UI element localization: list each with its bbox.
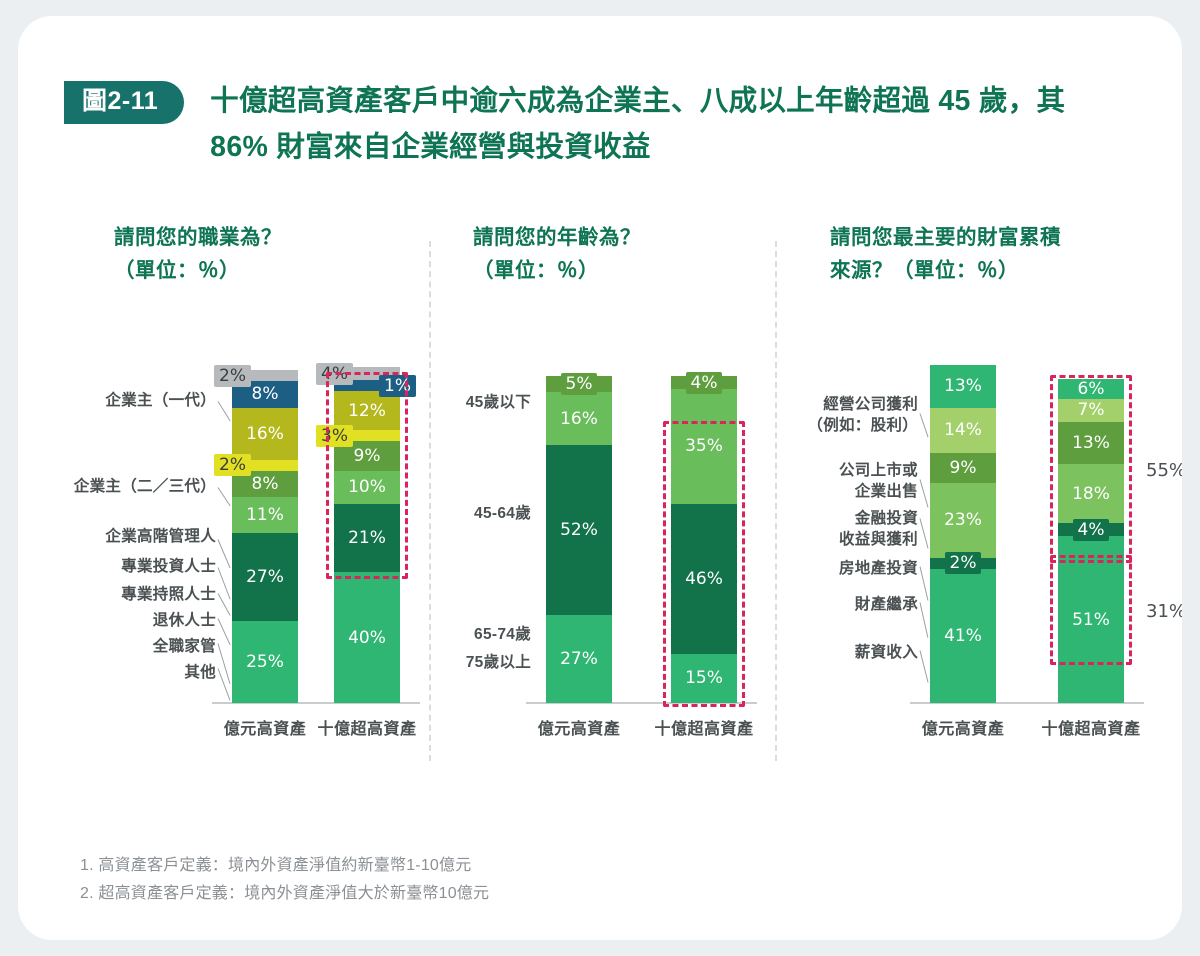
footnotes: 1. 高資產客戶定義：境內外資產淨值約新臺幣1-10億元 2. 超高資產客戶定義… xyxy=(80,852,980,907)
bar-segment[interactable]: 5% xyxy=(546,376,612,392)
footnote-1: 1. 高資產客戶定義：境內外資產淨值約新臺幣1-10億元 xyxy=(80,852,980,880)
category-label: 薪資收入 xyxy=(828,643,918,664)
category-label: 企業主（一代） xyxy=(64,391,216,412)
bar-segment[interactable]: 16% xyxy=(232,408,298,460)
segment-value-label: 21% xyxy=(348,528,386,548)
category-label: 金融投資 收益與獲利 xyxy=(800,509,918,550)
bar-segment[interactable]: 23% xyxy=(930,483,996,558)
leader-line xyxy=(920,413,929,437)
stacked-bar-right[interactable]: 40%21%10%9%3%12%1%4% xyxy=(334,367,400,703)
category-label: 企業主（二／三代） xyxy=(56,477,216,498)
category-label: 公司上市或 企業出售 xyxy=(800,461,918,502)
segment-value-label: 4% xyxy=(316,363,353,385)
bar-segment[interactable]: 27% xyxy=(232,533,298,621)
chart-panel-age: 請問您的年齡為？ （單位：％） 27%52%16%5%億元高資產15%46%35… xyxy=(431,221,776,781)
highlight-total-note: 55% xyxy=(1146,460,1182,481)
stacked-bar-left[interactable]: 41%2%23%9%14%13% xyxy=(930,365,996,703)
leader-line xyxy=(920,518,929,548)
bar-segment[interactable]: 2% xyxy=(232,370,298,381)
category-label: 財產繼承 xyxy=(828,595,918,616)
segment-value-label: 11% xyxy=(246,505,284,525)
footnote-2: 2. 超高資產客戶定義：境內外資產淨值大於新臺幣10億元 xyxy=(80,880,980,908)
figure-title: 十億超高資產客戶中逾六成為企業主、八成以上年齡超過 45 歲，其 86% 財富來… xyxy=(210,78,1124,170)
segment-value-label: 51% xyxy=(1072,610,1110,630)
segment-value-label: 52% xyxy=(560,520,598,540)
segment-value-label: 25% xyxy=(246,652,284,672)
segment-value-label: 40% xyxy=(348,628,386,648)
bar-segment[interactable]: 6% xyxy=(1058,379,1124,399)
segment-value-label: 16% xyxy=(560,409,598,429)
bar-segment[interactable]: 18% xyxy=(1058,464,1124,523)
bar-segment[interactable]: 4% xyxy=(671,376,737,389)
category-label: 65-74歲 xyxy=(431,625,531,646)
plot-area: 25%27%11%8%2%16%8%2%億元高資產40%21%10%9%3%12… xyxy=(64,361,429,741)
category-label: 全職家管 xyxy=(116,637,216,658)
bar-segment[interactable]: 13% xyxy=(1058,422,1124,465)
segment-value-label: 5% xyxy=(561,373,598,395)
leader-line xyxy=(920,650,929,682)
leader-line xyxy=(218,618,231,645)
bar-segment[interactable]: 2% xyxy=(930,558,996,569)
stacked-bar-right[interactable]: 51%4%18%13%7%6% xyxy=(1058,379,1124,703)
bar-segment[interactable]: 51% xyxy=(1058,536,1124,703)
leader-line xyxy=(218,487,231,506)
bar-segment[interactable]: 52% xyxy=(546,445,612,615)
segment-value-label: 9% xyxy=(354,446,381,466)
category-label: 經營公司獲利 （例如：股利） xyxy=(778,395,918,436)
bar-segment[interactable]: 27% xyxy=(546,615,612,703)
segment-value-label: 1% xyxy=(379,375,416,397)
category-label: 45-64歲 xyxy=(431,504,531,525)
bar-segment[interactable]: 10% xyxy=(334,471,400,504)
segment-value-label: 15% xyxy=(685,668,723,688)
panel-title: 請問您最主要的財富累積 來源？（單位：％） xyxy=(830,221,1168,287)
bar-segment[interactable]: 25% xyxy=(232,621,298,703)
segment-value-label: 4% xyxy=(686,372,723,394)
leader-line xyxy=(218,539,231,568)
segment-value-label: 8% xyxy=(252,384,279,404)
category-label: 退休人士 xyxy=(116,611,216,632)
bar-segment[interactable]: 21% xyxy=(334,504,400,573)
category-label: 75歲以上 xyxy=(431,653,531,674)
panel-title: 請問您的職業為？ （單位：％） xyxy=(114,221,429,287)
segment-value-label: 18% xyxy=(1072,484,1110,504)
charts-area: 請問您的職業為？ （單位：％） 25%27%11%8%2%16%8%2%億元高資… xyxy=(18,221,1182,781)
highlight-total-note: 31% xyxy=(1146,601,1182,622)
segment-value-label: 46% xyxy=(685,569,723,589)
segment-value-label: 6% xyxy=(1078,379,1105,399)
x-axis-label: 億元高資產 xyxy=(896,715,1030,739)
bar-segment[interactable]: 11% xyxy=(232,497,298,533)
bar-segment[interactable]: 13% xyxy=(930,365,996,408)
stacked-bar-left[interactable]: 27%52%16%5% xyxy=(546,376,612,703)
category-label: 專業投資人士 xyxy=(84,557,216,578)
x-axis-label: 億元高資產 xyxy=(512,715,646,739)
segment-value-label: 14% xyxy=(944,420,982,440)
segment-value-label: 2% xyxy=(214,365,251,387)
segment-value-label: 12% xyxy=(348,401,386,421)
bar-segment[interactable]: 15% xyxy=(671,654,737,703)
category-label: 其他 xyxy=(160,663,216,684)
bar-segment[interactable]: 2% xyxy=(232,460,298,471)
segment-value-label: 27% xyxy=(246,567,284,587)
stacked-bar-left[interactable]: 25%27%11%8%2%16%8%2% xyxy=(232,370,298,703)
panel-title: 請問您的年齡為？ （單位：％） xyxy=(473,221,776,287)
chart-panel-occupation: 請問您的職業為？ （單位：％） 25%27%11%8%2%16%8%2%億元高資… xyxy=(64,221,429,781)
bar-segment[interactable]: 35% xyxy=(671,389,737,503)
bar-segment[interactable]: 3% xyxy=(334,430,400,441)
plot-area: 41%2%23%9%14%13%億元高資產51%4%18%13%7%6%十億超高… xyxy=(778,361,1168,741)
leader-line xyxy=(920,479,929,507)
bar-segment[interactable]: 7% xyxy=(1058,399,1124,422)
segment-value-label: 2% xyxy=(214,454,251,476)
stacked-bar-right[interactable]: 15%46%35%4% xyxy=(671,376,737,703)
x-axis-label: 十億超高資產 xyxy=(637,715,771,739)
figure-number-badge: 圖2-11 xyxy=(64,81,184,124)
bar-segment[interactable]: 16% xyxy=(546,392,612,444)
category-label: 房地產投資 xyxy=(800,559,918,580)
bar-segment[interactable]: 41% xyxy=(930,569,996,703)
x-axis-label: 十億超高資產 xyxy=(1024,715,1158,739)
category-label: 企業高階管理人 xyxy=(84,527,216,548)
segment-value-label: 7% xyxy=(1078,400,1105,420)
leader-line xyxy=(218,401,231,421)
bar-segment[interactable]: 4% xyxy=(1058,523,1124,536)
segment-value-label: 35% xyxy=(685,436,723,456)
segment-value-label: 9% xyxy=(950,458,977,478)
leader-line xyxy=(218,668,231,700)
segment-value-label: 4% xyxy=(1073,519,1110,541)
segment-value-label: 8% xyxy=(252,474,279,494)
segment-value-label: 27% xyxy=(560,649,598,669)
segment-value-label: 13% xyxy=(944,376,982,396)
category-label: 專業持照人士 xyxy=(84,585,216,606)
segment-value-label: 13% xyxy=(1072,433,1110,453)
segment-value-label: 16% xyxy=(246,424,284,444)
figure-header: 圖2-11 十億超高資產客戶中逾六成為企業主、八成以上年齡超過 45 歲，其 8… xyxy=(64,78,1124,170)
bar-segment[interactable]: 9% xyxy=(930,453,996,482)
segment-value-label: 3% xyxy=(316,425,353,447)
bar-segment[interactable]: 46% xyxy=(671,504,737,654)
x-axis-label: 十億超高資產 xyxy=(300,715,434,739)
plot-area: 27%52%16%5%億元高資產15%46%35%4%十億超高資產45歲以下45… xyxy=(431,361,776,741)
segment-value-label: 10% xyxy=(348,477,386,497)
segment-value-label: 23% xyxy=(944,510,982,530)
bar-segment[interactable]: 40% xyxy=(334,572,400,703)
leader-line xyxy=(218,643,231,684)
segment-value-label: 41% xyxy=(944,626,982,646)
bar-segment[interactable]: 14% xyxy=(930,408,996,454)
figure-card: 圖2-11 十億超高資產客戶中逾六成為企業主、八成以上年齡超過 45 歲，其 8… xyxy=(18,16,1182,940)
segment-value-label: 2% xyxy=(945,552,982,574)
category-label: 45歲以下 xyxy=(431,393,531,414)
leader-line xyxy=(920,566,929,600)
chart-panel-wealth-source: 請問您最主要的財富累積 來源？（單位：％） 41%2%23%9%14%13%億元… xyxy=(778,221,1168,781)
leader-line xyxy=(920,602,929,638)
